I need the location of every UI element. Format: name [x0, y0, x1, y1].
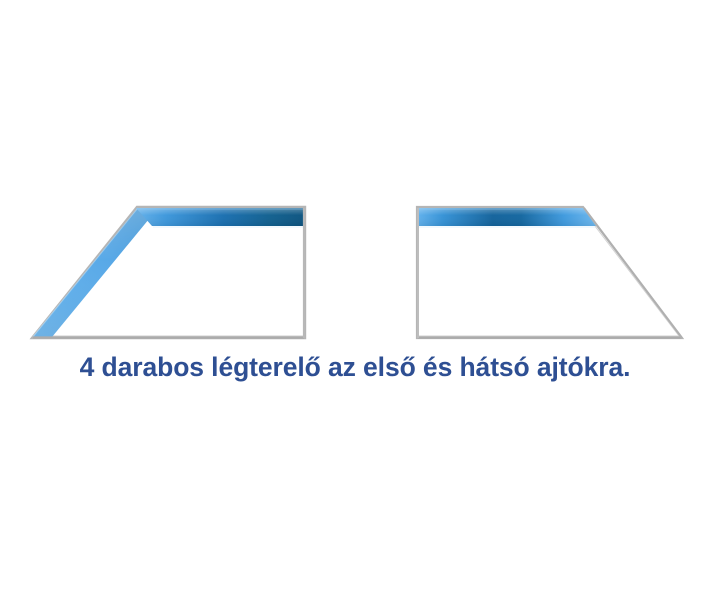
front-door-deflector-shape — [32, 207, 305, 338]
illustration-page: 4 darabos légterelő az első és hátsó ajt… — [0, 0, 710, 613]
rear-door-deflector-shape — [417, 207, 682, 338]
product-caption: 4 darabos légterelő az első és hátsó ajt… — [0, 352, 710, 383]
wind-deflector-pair-illustration — [0, 0, 710, 360]
